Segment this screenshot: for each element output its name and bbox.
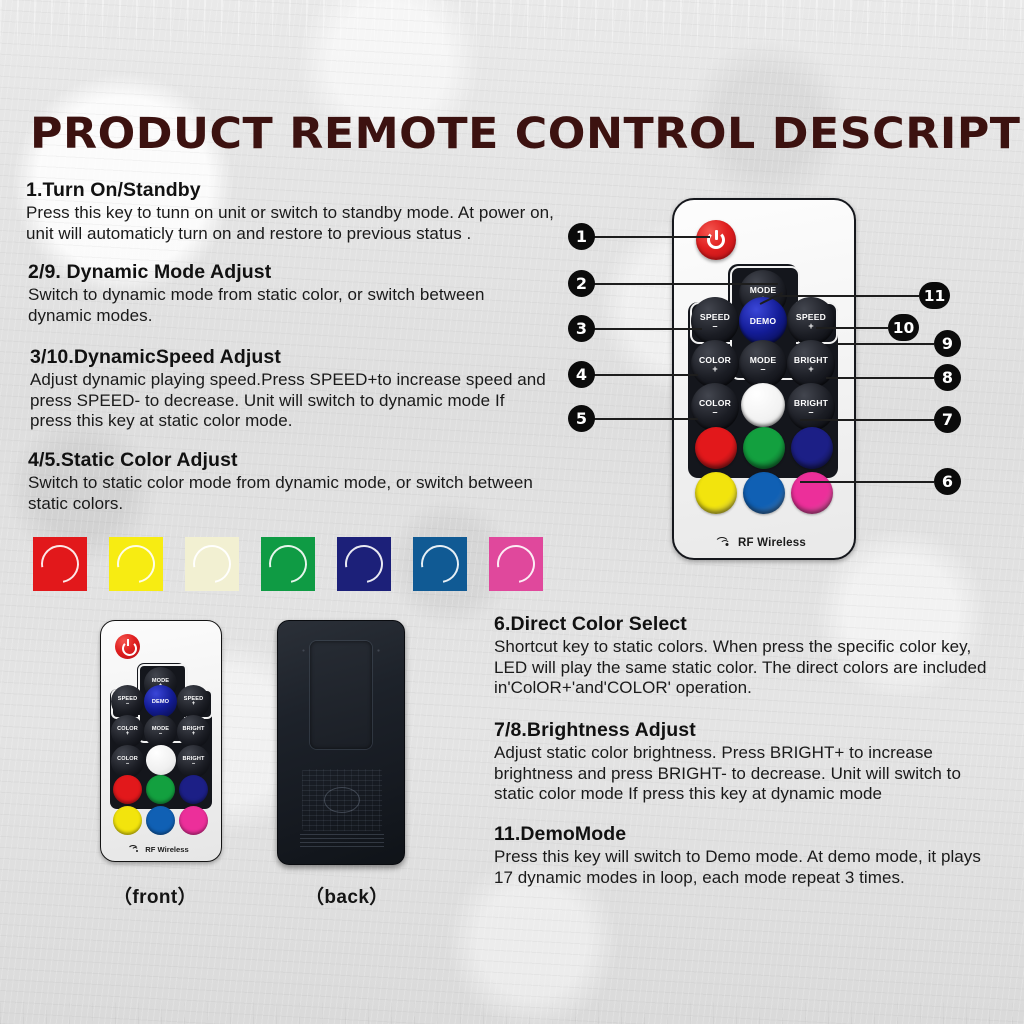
key-color-navy-thumb[interactable] <box>179 775 208 804</box>
power-icon <box>707 231 725 249</box>
callout-leader-lines <box>0 0 1024 1024</box>
key-color-navy[interactable] <box>791 427 833 469</box>
caption-front: （front） <box>113 882 197 909</box>
remote-thumbnail-back <box>277 620 405 865</box>
embossed-markings <box>302 769 382 831</box>
key-color-plus-thumb[interactable]: COLOR+ <box>111 715 144 748</box>
key-color-blue[interactable] <box>743 472 785 514</box>
key-color-magenta-thumb[interactable] <box>179 806 208 835</box>
key-color-yellow-thumb[interactable] <box>113 806 142 835</box>
key-bright-minus-thumb[interactable]: BRIGHT– <box>177 745 210 778</box>
key-color-minus[interactable]: COLOR – <box>691 383 739 431</box>
key-demo[interactable]: DEMO <box>739 297 787 345</box>
key-white[interactable] <box>741 383 785 427</box>
remote-control-front-large: MODE + SPEED – DEMO SPEED + COLOR + MODE… <box>672 198 856 560</box>
callout-badge-6: 6 <box>934 468 961 495</box>
power-button-thumb[interactable] <box>115 634 140 659</box>
key-speed-plus[interactable]: SPEED + <box>787 297 835 345</box>
callout-badge-1: 1 <box>568 223 595 250</box>
key-color-plus[interactable]: COLOR + <box>691 340 739 388</box>
key-mode-minus[interactable]: MODE – <box>739 340 787 388</box>
key-bright-minus[interactable]: BRIGHT – <box>787 383 835 431</box>
wifi-icon <box>133 845 142 853</box>
key-color-green[interactable] <box>743 427 785 469</box>
caption-back: （back） <box>305 882 389 909</box>
wifi-icon <box>722 536 735 547</box>
callout-badge-5: 5 <box>568 405 595 432</box>
power-icon <box>122 641 137 656</box>
callout-badge-8: 8 <box>934 364 961 391</box>
key-speed-plus-thumb[interactable]: SPEED+ <box>177 685 210 718</box>
remote-thumbnail-front: MODE+ SPEED– DEMO SPEED+ COLOR+ MODE– BR… <box>100 620 222 862</box>
key-speed-minus[interactable]: SPEED – <box>691 297 739 345</box>
callout-badge-7: 7 <box>934 406 961 433</box>
embossed-text-lines <box>300 833 384 847</box>
callout-badge-2: 2 <box>568 270 595 297</box>
key-color-magenta[interactable] <box>791 472 833 514</box>
callout-badge-11: 11 <box>919 282 950 309</box>
keypad-thumb: MODE+ SPEED– DEMO SPEED+ COLOR+ MODE– BR… <box>110 663 212 809</box>
key-color-minus-thumb[interactable]: COLOR– <box>111 745 144 778</box>
callout-badge-9: 9 <box>934 330 961 357</box>
rf-wireless-label-thumb: RF Wireless <box>101 845 221 854</box>
callout-badge-10: 10 <box>888 314 919 341</box>
key-color-yellow[interactable] <box>695 472 737 514</box>
power-button[interactable] <box>696 220 736 260</box>
key-color-red[interactable] <box>695 427 737 469</box>
key-demo-thumb[interactable]: DEMO <box>144 685 177 718</box>
callout-badge-4: 4 <box>568 361 595 388</box>
key-bright-plus-thumb[interactable]: BRIGHT+ <box>177 715 210 748</box>
key-bright-plus[interactable]: BRIGHT + <box>787 340 835 388</box>
key-color-green-thumb[interactable] <box>146 775 175 804</box>
key-mode-minus-thumb[interactable]: MODE– <box>144 715 177 748</box>
key-speed-minus-thumb[interactable]: SPEED– <box>111 685 144 718</box>
key-color-blue-thumb[interactable] <box>146 806 175 835</box>
rf-wireless-label: RF Wireless <box>674 536 854 549</box>
key-white-thumb[interactable] <box>146 745 176 775</box>
callout-badge-3: 3 <box>568 315 595 342</box>
key-color-red-thumb[interactable] <box>113 775 142 804</box>
battery-cover <box>310 641 372 749</box>
